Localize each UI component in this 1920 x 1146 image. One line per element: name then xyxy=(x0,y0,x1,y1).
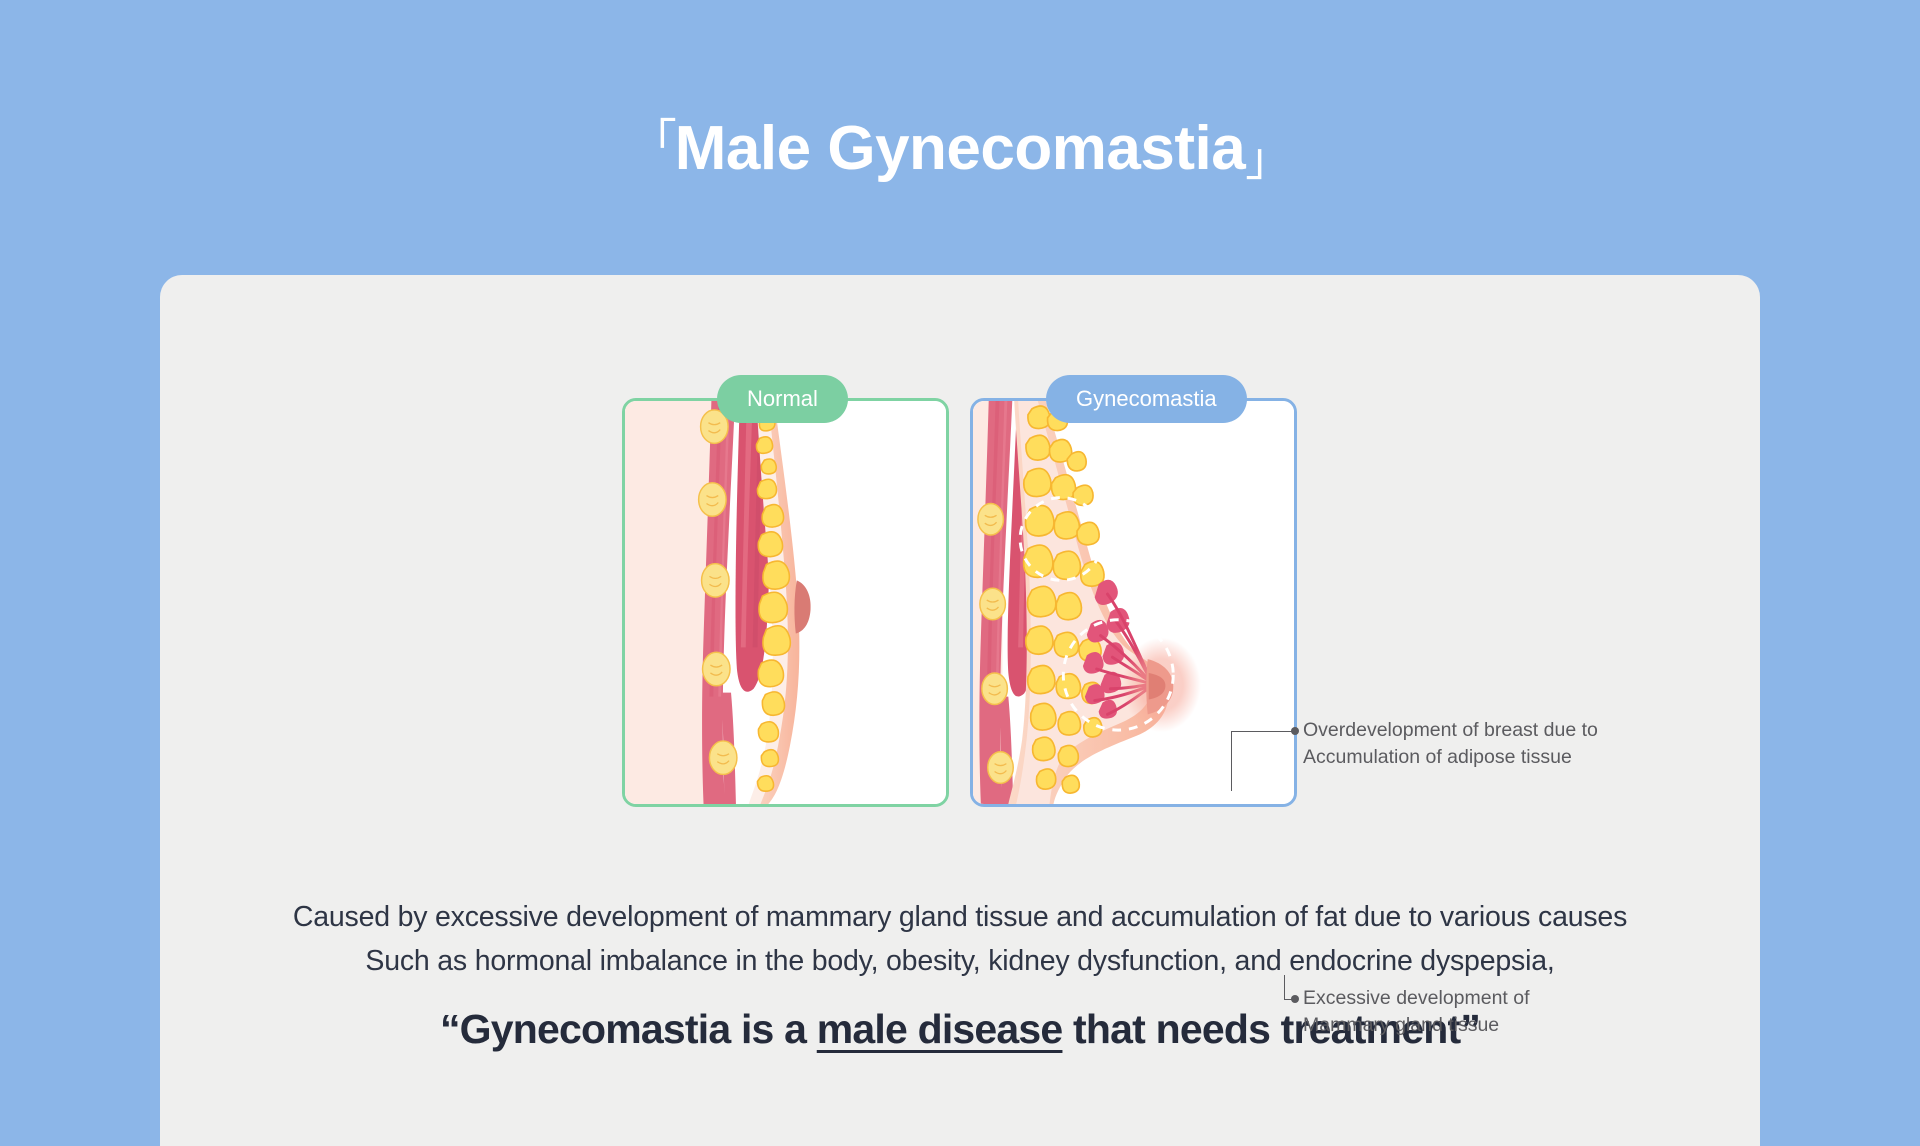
title-open-bracket: 「 xyxy=(631,115,675,167)
leader-line-top-horizontal xyxy=(1231,731,1295,732)
content-card: Normal Gynecomastia Overdevelopment of b… xyxy=(160,275,1760,1146)
badge-gynecomastia: Gynecomastia xyxy=(1046,375,1247,423)
leader-line-top-vertical xyxy=(1231,731,1232,791)
quote-underlined-text: male disease xyxy=(817,1006,1063,1052)
comparison-panels: Normal Gynecomastia Overdevelopment of b… xyxy=(160,275,1760,835)
annotation-dot-top xyxy=(1291,727,1299,735)
annotation-gland: Excessive development of Mammary gland t… xyxy=(1303,985,1530,1039)
title-text: Male Gynecomastia xyxy=(675,114,1245,183)
annotation-adipose-line1: Overdevelopment of breast due to xyxy=(1303,717,1598,744)
annotation-gland-line2: Mammary gland tissue xyxy=(1303,1012,1530,1039)
quote-open-mark: “ xyxy=(440,1006,460,1052)
badge-normal: Normal xyxy=(717,375,848,423)
caption-line-1: Caused by excessive development of mamma… xyxy=(160,895,1760,939)
infographic-page: 「Male Gynecomastia」 xyxy=(0,0,1920,1146)
annotation-adipose: Overdevelopment of breast due to Accumul… xyxy=(1303,717,1598,771)
normal-chest-diagram-svg xyxy=(625,401,946,804)
title-close-bracket: 」 xyxy=(1245,133,1289,185)
annotation-dot-bottom xyxy=(1291,995,1299,1003)
gynecomastia-diagram-svg xyxy=(973,401,1294,804)
annotation-adipose-line2: Accumulation of adipose tissue xyxy=(1303,744,1598,771)
leader-line-bottom-vertical xyxy=(1284,975,1285,1000)
page-title: 「Male Gynecomastia」 xyxy=(0,118,1920,182)
panel-gynecomastia xyxy=(970,398,1297,807)
caption-line-2: Such as hormonal imbalance in the body, … xyxy=(160,939,1760,983)
quote-text-part1: Gynecomastia is a xyxy=(460,1006,817,1052)
panel-normal xyxy=(622,398,949,807)
annotation-gland-line1: Excessive development of xyxy=(1303,985,1530,1012)
